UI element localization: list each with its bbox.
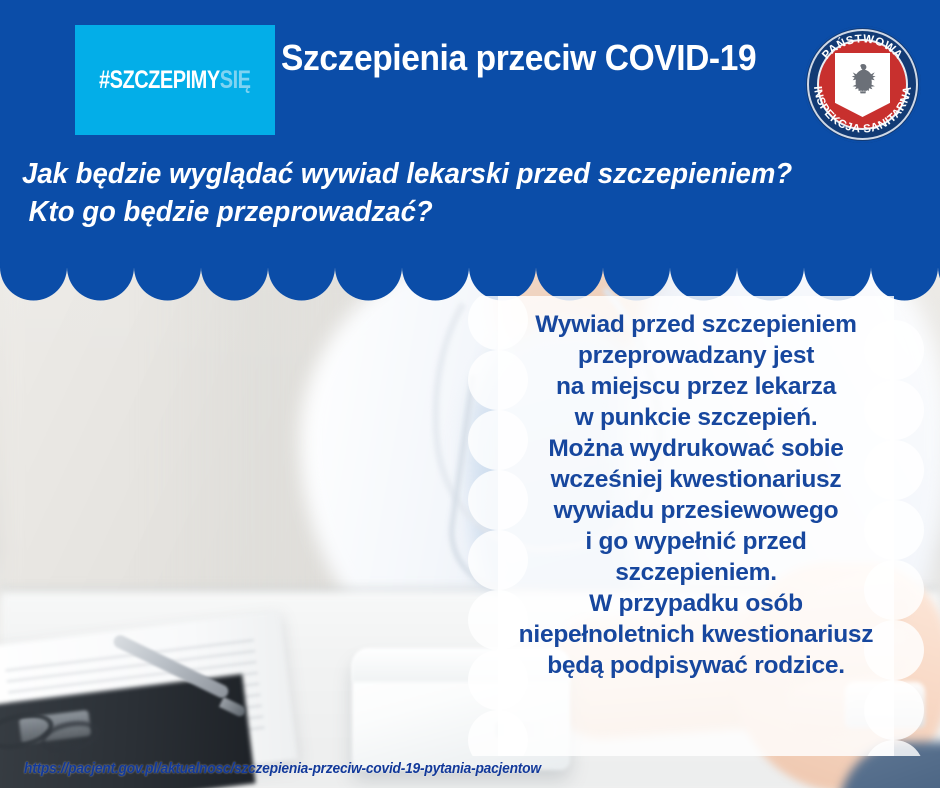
covid-vaccination-infographic-poster: #SZCZEPIMYSIĘ Szczepienia przeciw COVID-… [0,0,940,788]
szczepimy-sie-logo: #SZCZEPIMYSIĘ [75,25,275,135]
source-url[interactable]: https://pacjent.gov.pl/aktualnosc/szczep… [24,760,541,777]
panstwowa-inspekcja-sanitarna-seal: PAŃSTWOWA INSPEKCJA SANITARNA [804,26,921,143]
panel-line-10: W przypadku osób [476,589,916,620]
panel-line-2: przeprowadzany jest [476,341,916,372]
headline-line-1: Jak będzie wyglądać wywiad lekarski prze… [22,158,792,190]
panel-line-6: wcześniej kwestionariusz [476,465,916,496]
panel-line-11: niepełnoletnich kwestionariusz [476,620,916,651]
panel-line-4: w punkcie szczepień. [476,403,916,434]
panel-line-12: będą podpisywać rodzice. [476,651,916,682]
panel-line-3: na miejscu przez lekarza [476,372,916,403]
panel-line-9: szczepieniem. [476,558,916,589]
page-title: Szczepienia przeciw COVID-19 [281,37,765,79]
headline: Jak będzie wyglądać wywiad lekarski prze… [22,155,868,232]
panel-body-text: Wywiad przed szczepieniemprzeprowadzany … [476,310,916,682]
polish-eagle-icon [840,59,885,105]
logo-text-bold: #SZCZEPIMY [99,66,220,95]
logo-text-light: SIĘ [220,66,251,95]
panel-line-8: i go wypełnić przed [476,527,916,558]
panel-line-1: Wywiad przed szczepieniem [476,310,916,341]
headline-line-2: Kto go będzie przeprowadzać? [22,193,868,231]
poster-header: #SZCZEPIMYSIĘ Szczepienia przeciw COVID-… [0,0,940,268]
panel-line-5: Można wydrukować sobie [476,434,916,465]
panel-line-7: wywiadu przesiewowego [476,496,916,527]
answer-text-panel: Wywiad przed szczepieniemprzeprowadzany … [468,296,924,756]
